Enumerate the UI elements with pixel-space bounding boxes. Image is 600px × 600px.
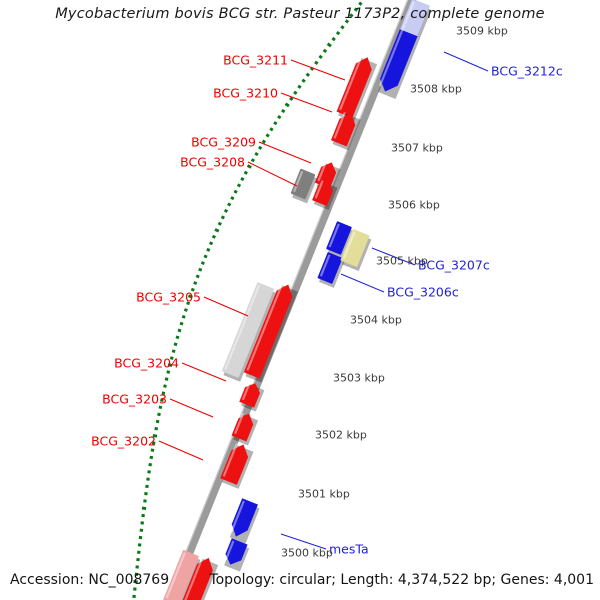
ruler-tick-label: 3502 kbp <box>315 429 367 442</box>
label-leader-line <box>159 441 203 460</box>
ruler-minor-tick <box>295 92 297 94</box>
ruler-minor-tick <box>157 420 158 423</box>
ruler-minor-tick <box>200 268 201 271</box>
ruler-tick-label: 3501 kbp <box>298 488 350 501</box>
ruler-minor-tick <box>359 3 361 5</box>
page-title: Mycobacterium bovis BCG str. Pasteur 117… <box>0 6 600 22</box>
ruler-minor-tick <box>267 134 269 136</box>
ruler-minor-tick <box>333 38 335 40</box>
ruler-minor-tick <box>278 116 280 118</box>
ruler-minor-tick <box>245 172 246 175</box>
ruler-minor-tick <box>173 350 174 353</box>
gene-feature[interactable] <box>316 252 345 288</box>
ruler-minor-tick <box>185 309 186 312</box>
ruler-minor-tick <box>211 242 212 245</box>
gene-feature[interactable] <box>238 380 265 411</box>
label-leader-line <box>204 297 248 316</box>
ruler-tick-label: 3506 kbp <box>388 199 440 212</box>
gene-label-bcg_3209[interactable]: BCG_3209 <box>191 135 256 150</box>
ruler-minor-tick <box>156 427 157 430</box>
label-leader-line <box>341 274 384 292</box>
ruler-minor-tick <box>282 110 284 112</box>
gene-label-bcg_3205[interactable]: BCG_3205 <box>136 290 201 305</box>
ruler-major-tick <box>216 229 217 232</box>
ruler-minor-tick <box>197 275 198 278</box>
ruler-minor-tick <box>252 159 253 162</box>
ruler-minor-tick <box>324 50 326 52</box>
ruler-tick-label: 3509 kbp <box>456 25 508 38</box>
ruler-minor-tick <box>166 378 167 381</box>
ruler-minor-tick <box>307 74 309 76</box>
gene-label-bcg_3203[interactable]: BCG_3203 <box>102 392 167 407</box>
label-leader-line <box>182 363 226 381</box>
ruler-tick-label: 3503 kbp <box>333 372 385 385</box>
label-leader-line <box>259 142 311 163</box>
accession-status: Accession: NC_008769 <box>10 572 169 588</box>
ruler-tick-label: 3500 kbp <box>281 547 333 560</box>
gene-label-bcg_3211[interactable]: BCG_3211 <box>223 53 288 68</box>
gene-label-bcg_3207c[interactable]: BCG_3207c <box>418 258 490 273</box>
ruler-minor-tick <box>159 413 160 416</box>
gene-feature[interactable] <box>227 498 261 543</box>
ruler-minor-tick <box>165 385 166 388</box>
ruler-minor-tick <box>208 249 209 252</box>
ruler-minor-tick <box>177 336 178 339</box>
gene-label-bcg_3206c[interactable]: BCG_3206c <box>387 285 459 300</box>
ruler-major-tick <box>249 165 250 168</box>
ruler-minor-tick <box>222 216 223 219</box>
label-leader-line <box>170 399 213 417</box>
label-leader-line <box>248 162 297 186</box>
ruler-minor-tick <box>232 197 233 200</box>
ruler-minor-tick <box>168 371 169 374</box>
ruler-minor-tick <box>202 262 203 265</box>
ruler-minor-tick <box>320 56 322 58</box>
ruler-minor-tick <box>229 203 230 206</box>
ruler-minor-tick <box>195 282 196 285</box>
ruler-tick-label: 3507 kbp <box>391 142 443 155</box>
ruler-minor-tick <box>263 140 265 142</box>
ruler-minor-tick <box>303 80 305 82</box>
label-leader-line <box>444 52 488 71</box>
ruler-minor-tick <box>238 184 239 187</box>
ruler-tick-label: 3508 kbp <box>410 83 462 96</box>
ruler-minor-tick <box>213 235 214 238</box>
ruler-major-tick <box>328 44 330 46</box>
ruler-minor-tick <box>271 128 273 130</box>
label-leader-line <box>281 93 332 112</box>
ruler-minor-tick <box>219 222 220 225</box>
genome-map-canvas[interactable] <box>0 0 600 600</box>
gene-label-bcg_3202[interactable]: BCG_3202 <box>91 434 156 449</box>
gene-label-bcg_3210[interactable]: BCG_3210 <box>213 86 278 101</box>
gene-label-bcg_3208[interactable]: BCG_3208 <box>180 155 245 170</box>
ruler-major-tick <box>286 104 288 106</box>
gene-feature[interactable] <box>221 538 250 571</box>
gene-label-mesta[interactable]: mesTa <box>329 542 369 557</box>
ruler-minor-tick <box>242 178 243 181</box>
ruler-minor-tick <box>183 315 184 318</box>
ruler-minor-tick <box>235 190 236 193</box>
ruler-minor-tick <box>179 329 180 332</box>
genome-summary-status: Topology: circular; Length: 4,374,522 bp… <box>209 572 594 588</box>
ruler-minor-tick <box>315 62 317 64</box>
ruler-tick-label: 3504 kbp <box>350 314 402 327</box>
ruler-minor-tick <box>259 147 260 149</box>
ruler-minor-tick <box>205 255 206 258</box>
label-leader-group <box>159 52 488 549</box>
ruler-minor-tick <box>175 343 176 346</box>
ruler-minor-tick <box>342 26 344 28</box>
ruler-minor-tick <box>290 98 292 100</box>
genome-viewer-window: Mycobacterium bovis BCG str. Pasteur 117… <box>0 0 600 600</box>
ruler-minor-tick <box>181 322 182 325</box>
ruler-minor-tick <box>337 32 339 34</box>
ruler-minor-tick <box>225 210 226 213</box>
ruler-tick-label: 3505 kbp <box>376 255 428 268</box>
gene-label-bcg_3204[interactable]: BCG_3204 <box>114 356 179 371</box>
gene-label-bcg_3212c[interactable]: BCG_3212c <box>491 64 563 79</box>
ruler-minor-tick <box>275 122 277 124</box>
ruler-minor-tick <box>256 153 257 156</box>
ruler-minor-tick <box>299 86 301 88</box>
